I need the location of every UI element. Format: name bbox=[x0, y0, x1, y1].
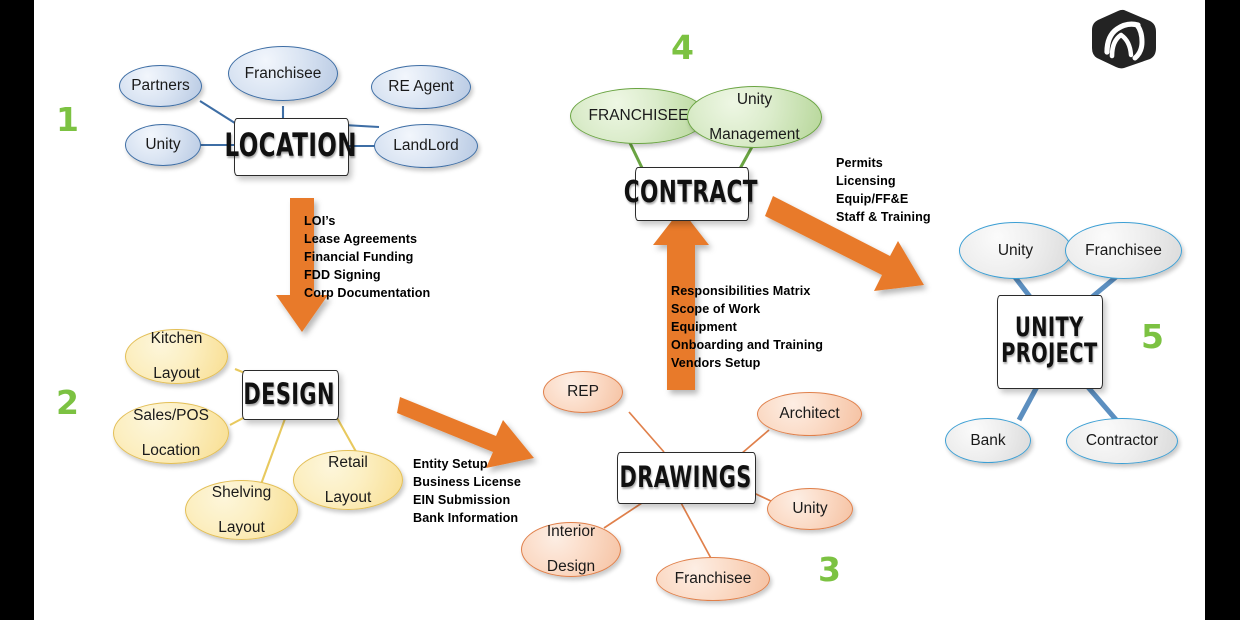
step-number-2: 2 bbox=[56, 386, 79, 419]
node-location-re-agent[interactable]: RE Agent bbox=[371, 65, 471, 109]
arrow-label-contract-to-unity-project: Permits Licensing Equip/FF&E Staff & Tra… bbox=[836, 155, 931, 227]
unity-hex-n-logo bbox=[1090, 8, 1158, 70]
step-number-4: 4 bbox=[671, 31, 694, 64]
hub-drawings[interactable]: DRAWINGS bbox=[617, 452, 754, 502]
node-design-kitchen-layout[interactable]: KitchenLayout bbox=[125, 329, 228, 384]
node-location-landlord[interactable]: LandLord bbox=[374, 124, 478, 168]
step-number-1: 1 bbox=[56, 103, 79, 136]
node-drawings-rep[interactable]: REP bbox=[543, 371, 623, 413]
step-number-5: 5 bbox=[1141, 320, 1164, 353]
hub-unity-project[interactable]: UNITY PROJECT bbox=[997, 295, 1101, 387]
node-design-sales-pos-location[interactable]: Sales/POSLocation bbox=[113, 402, 229, 464]
node-unity-project-contractor[interactable]: Contractor bbox=[1066, 418, 1178, 464]
hub-design[interactable]: DESIGN bbox=[242, 370, 337, 418]
node-location-partners[interactable]: Partners bbox=[119, 65, 202, 107]
step-number-3: 3 bbox=[818, 553, 841, 586]
node-unity-project-franchisee[interactable]: Franchisee bbox=[1065, 222, 1182, 279]
node-drawings-unity[interactable]: Unity bbox=[767, 488, 853, 530]
node-design-shelving-layout[interactable]: ShelvingLayout bbox=[185, 480, 298, 540]
node-location-franchisee[interactable]: Franchisee bbox=[228, 46, 338, 101]
node-unity-project-bank[interactable]: Bank bbox=[945, 418, 1031, 463]
node-drawings-interior-design[interactable]: InteriorDesign bbox=[521, 522, 621, 577]
node-location-unity[interactable]: Unity bbox=[125, 124, 201, 166]
arrow-label-location-to-design: LOI’s Lease Agreements Financial Funding… bbox=[304, 213, 430, 302]
node-drawings-architect[interactable]: Architect bbox=[757, 392, 862, 436]
diagram-canvas: Partners Franchisee RE Agent Unity LandL… bbox=[34, 0, 1205, 620]
node-design-retail-layout[interactable]: RetailLayout bbox=[293, 450, 403, 510]
hub-location[interactable]: LOCATION bbox=[234, 118, 347, 174]
arrow-label-design-to-drawings: Entity Setup Business License EIN Submis… bbox=[413, 456, 521, 528]
arrow-label-drawings-to-contract: Responsibilities Matrix Scope of Work Eq… bbox=[671, 283, 823, 372]
hub-contract[interactable]: CONTRACT bbox=[635, 167, 747, 219]
screenshot-frame: Partners Franchisee RE Agent Unity LandL… bbox=[0, 0, 1240, 620]
node-contract-unity-management[interactable]: UnityManagement bbox=[687, 86, 822, 148]
node-unity-project-unity[interactable]: Unity bbox=[959, 222, 1072, 279]
node-drawings-franchisee[interactable]: Franchisee bbox=[656, 557, 770, 601]
